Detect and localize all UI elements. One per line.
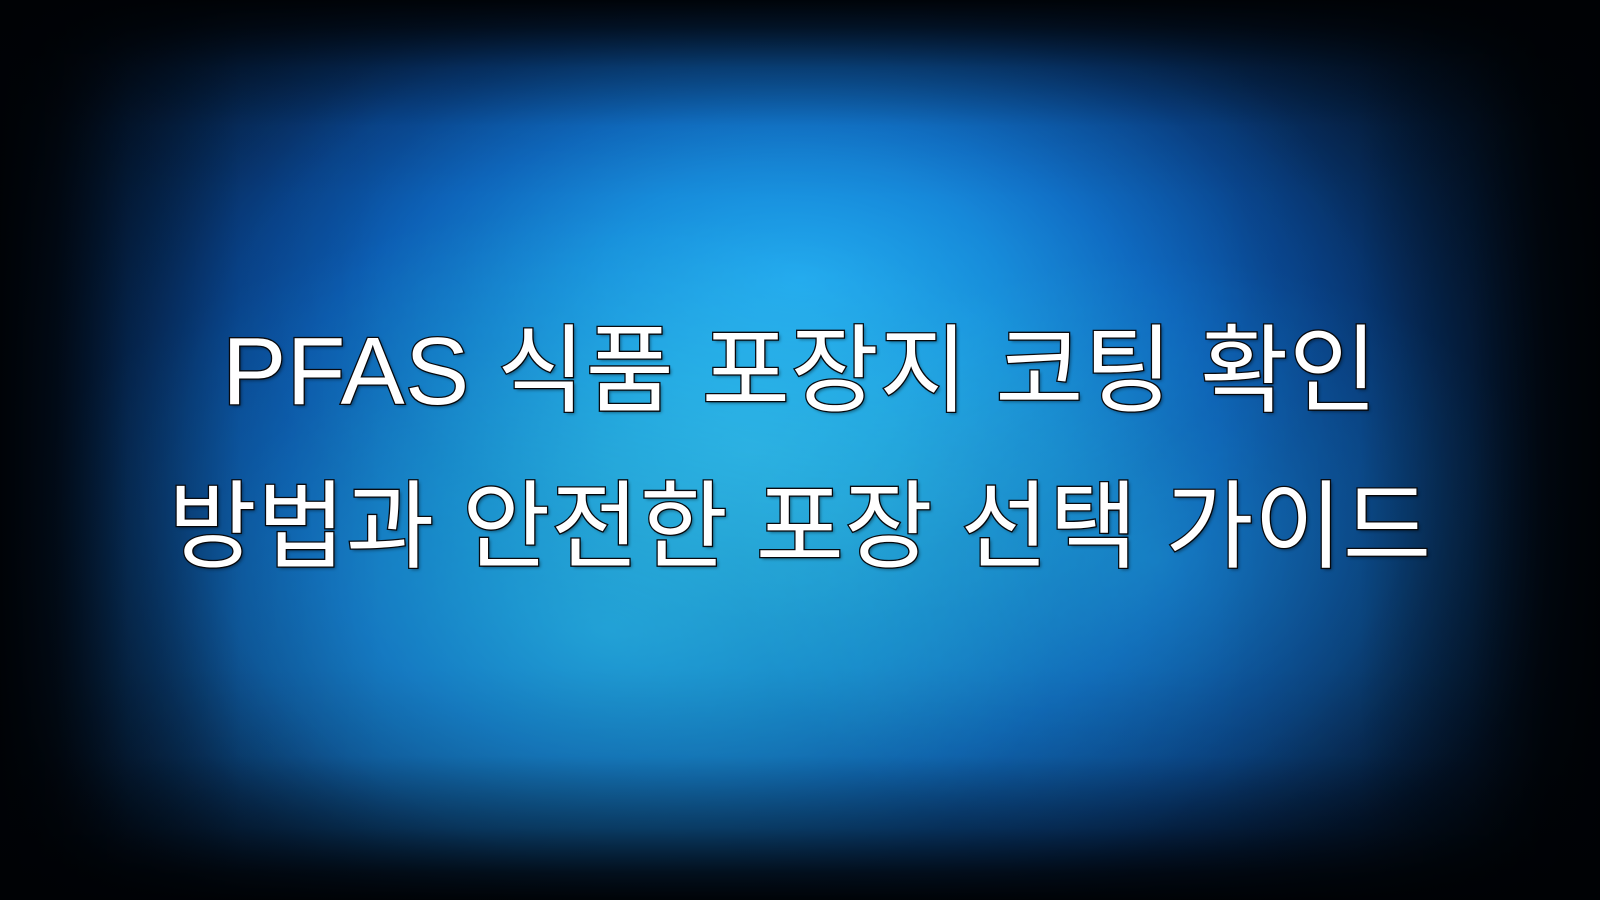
title-container: PFAS 식품 포장지 코팅 확인 방법과 안전한 포장 선택 가이드 (0, 0, 1600, 900)
page-title: PFAS 식품 포장지 코팅 확인 방법과 안전한 포장 선택 가이드 (84, 294, 1516, 605)
title-banner: PFAS 식품 포장지 코팅 확인 방법과 안전한 포장 선택 가이드 (0, 0, 1600, 900)
